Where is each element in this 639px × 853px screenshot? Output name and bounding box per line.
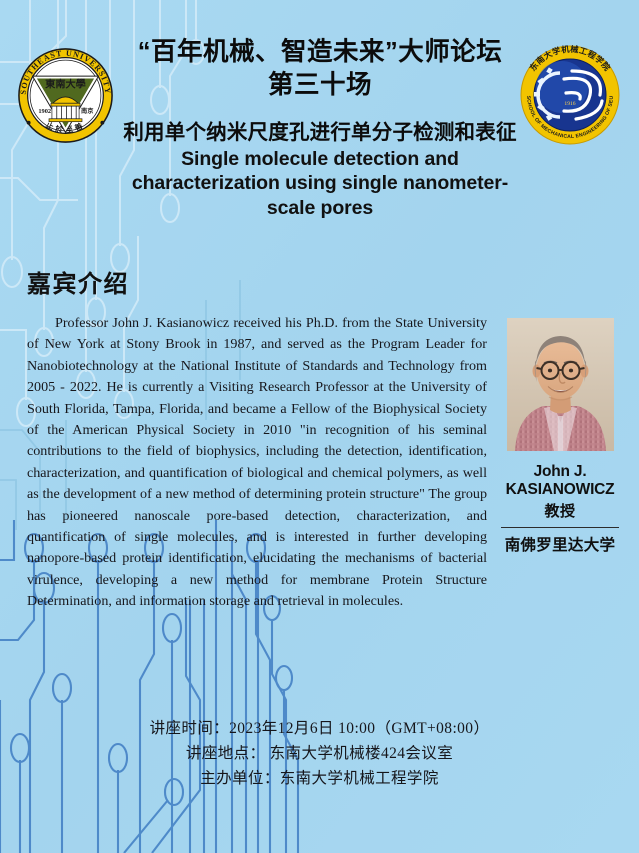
seal-city: 南京 — [81, 107, 93, 115]
speaker-name: John J. KASIANOWICZ — [495, 463, 625, 499]
lecture-subtitle-en-line-2: characterization using single nanometer- — [96, 171, 544, 196]
speaker-divider — [501, 527, 619, 528]
lecture-subtitle-cn: 利用单个纳米尺度孔进行单分子检测和表征 — [96, 115, 544, 145]
event-time-line: 讲座时间：2023年12月6日 10:00（GMT+08:00） — [0, 716, 639, 741]
poster-header: SOUTHEAST UNIVERSITY 止於至善 東南大學 — [0, 0, 639, 250]
title-block: “百年机械、智造未来”大师论坛 第三十场 利用单个纳米尺度孔进行单分子检测和表征… — [96, 36, 544, 220]
guest-biography-text: Professor John J. Kasianowicz received h… — [27, 313, 487, 613]
speaker-name-line-2: KASIANOWICZ — [495, 481, 625, 499]
speaker-portrait-photo — [507, 318, 614, 451]
speaker-academic-title: 教授 — [495, 500, 625, 521]
speaker-organization: 南佛罗里达大学 — [495, 533, 625, 555]
forum-title-line-1: “百年机械、智造未来”大师论坛 — [96, 36, 544, 69]
poster-canvas: SOUTHEAST UNIVERSITY 止於至善 東南大學 — [0, 0, 639, 853]
speaker-name-line-1: John J. — [495, 463, 625, 481]
forum-title-line-2: 第三十场 — [96, 69, 544, 103]
speaker-card: John J. KASIANOWICZ 教授 南佛罗里达大学 — [495, 318, 625, 555]
emblem-year: 1916 — [564, 101, 575, 107]
guest-section-heading: 嘉宾介绍 — [27, 264, 129, 299]
seal-center-cn: 東南大學 — [45, 77, 86, 90]
event-place-line: 讲座地点： 东南大学机械楼424会议室 — [0, 741, 639, 766]
event-details-footer: 讲座时间：2023年12月6日 10:00（GMT+08:00） 讲座地点： 东… — [0, 716, 639, 791]
event-host-line: 主办单位：东南大学机械工程学院 — [0, 766, 639, 791]
lecture-subtitle-en-line-3: scale pores — [96, 196, 544, 221]
lecture-subtitle-en: Single molecule detection and characteri… — [96, 147, 544, 221]
seal-year: 1902 — [38, 108, 51, 115]
lecture-subtitle-en-line-1: Single molecule detection and — [96, 147, 544, 172]
